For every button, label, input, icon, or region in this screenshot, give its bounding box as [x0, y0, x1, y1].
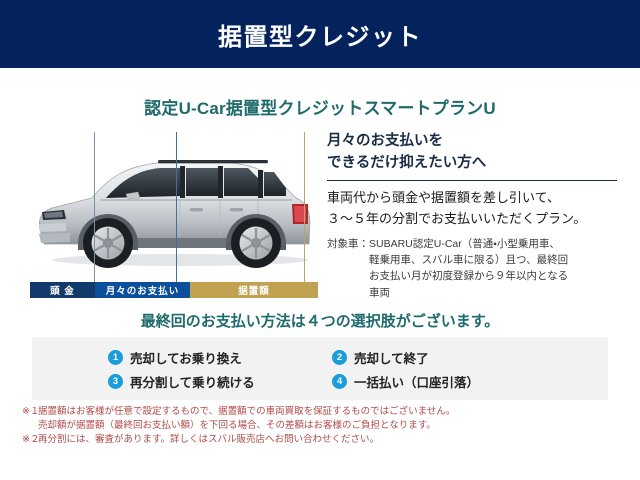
page-header: 据置型クレジット [0, 0, 640, 68]
benefit-heading-line1: 月々のお支払いを [327, 130, 619, 152]
footnote-2-mark: ※２ [22, 433, 38, 447]
option-item-2[interactable]: 2 売却して終了 [332, 348, 608, 367]
eligibility-label: 対象車： [327, 236, 369, 301]
footnote-1: ※１ 据置額はお客様が任意で設定するもので、据置額での車両買取を保証するものでは… [22, 405, 622, 419]
benefit-description: 月々のお支払いを できるだけ抑えたい方へ 車両代から頭金や据置額を差し引いて、 … [327, 130, 619, 301]
eligibility-line2: 軽乗用車、スバル車に限る）且つ、最終回 [369, 252, 568, 268]
option-label-3: 再分割して乗り続ける [130, 372, 255, 391]
segment-down-payment: 頭 金 [30, 282, 95, 298]
footnote-1-line1: 据置額はお客様が任意で設定するもので、据置額での車両買取を保証するものではござい… [38, 405, 455, 419]
benefit-body-line2: ３〜５年の分割でお支払いいただくプラン。 [327, 209, 619, 229]
eligibility-line4: 車両 [369, 285, 568, 301]
car-photo [30, 132, 318, 282]
segment-residual-value: 据置額 [190, 282, 318, 298]
option-item-1[interactable]: 1 売却してお乗り換え [108, 348, 332, 367]
benefit-body-line1: 車両代から頭金や据置額を差し引いて、 [327, 188, 619, 208]
segment-divider-2 [176, 132, 177, 282]
car-visual: 頭 金 月々のお支払い 据置額 [30, 132, 318, 298]
footnote-2-line1: 再分割には、審査があります。詳しくはスバル販売店へお問い合わせください。 [38, 433, 379, 447]
option-item-4[interactable]: 4 一括払い（口座引落） [332, 372, 608, 391]
benefit-heading-line2: できるだけ抑えたい方へ [327, 152, 619, 174]
options-box: 1 売却してお乗り換え 2 売却して終了 3 再分割して乗り続ける 4 一括払い… [32, 337, 608, 400]
segment-divider-1 [94, 132, 95, 282]
page-title: 据置型クレジット [218, 17, 422, 52]
eligibility-line1: SUBARU認定U-Car（普通・小型乗用車、 [369, 236, 568, 252]
option-badge-1: 1 [108, 350, 123, 365]
segment-monthly-payment: 月々のお支払い [95, 282, 190, 298]
footnotes: ※１ 据置額はお客様が任意で設定するもので、据置額での車両買取を保証するものでは… [22, 405, 622, 446]
plan-title: 認定U-Car据置型クレジットスマートプランU [0, 94, 640, 119]
heading-divider [327, 180, 617, 182]
promo-page: 据置型クレジット 認定U-Car据置型クレジットスマートプランU [0, 0, 640, 480]
forester-side-view-illustration [30, 132, 318, 282]
option-badge-3: 3 [108, 374, 123, 389]
option-badge-2: 2 [332, 350, 347, 365]
segment-divider-3 [304, 132, 305, 282]
footnote-1-mark: ※１ [22, 405, 38, 419]
footnote-1-line2: 売却額が据置額（最終回お支払い額）を下回る場合、その差額はお客様のご負担となりま… [22, 419, 622, 433]
eligibility-note: 対象車： SUBARU認定U-Car（普通・小型乗用車、 軽乗用車、スバル車に限… [327, 236, 619, 301]
options-heading: 最終回のお支払い方法は４つの選択肢がございます。 [0, 310, 640, 331]
option-label-1: 売却してお乗り換え [130, 348, 242, 367]
eligibility-line3: お支払い月が初度登録から９年以内となる [369, 268, 568, 284]
option-badge-4: 4 [332, 374, 347, 389]
option-label-4: 一括払い（口座引落） [354, 372, 479, 391]
footnote-2: ※２ 再分割には、審査があります。詳しくはスバル販売店へお問い合わせください。 [22, 433, 622, 447]
option-label-2: 売却して終了 [354, 348, 429, 367]
option-item-3[interactable]: 3 再分割して乗り続ける [108, 372, 332, 391]
payment-segment-bar: 頭 金 月々のお支払い 据置額 [30, 282, 318, 298]
